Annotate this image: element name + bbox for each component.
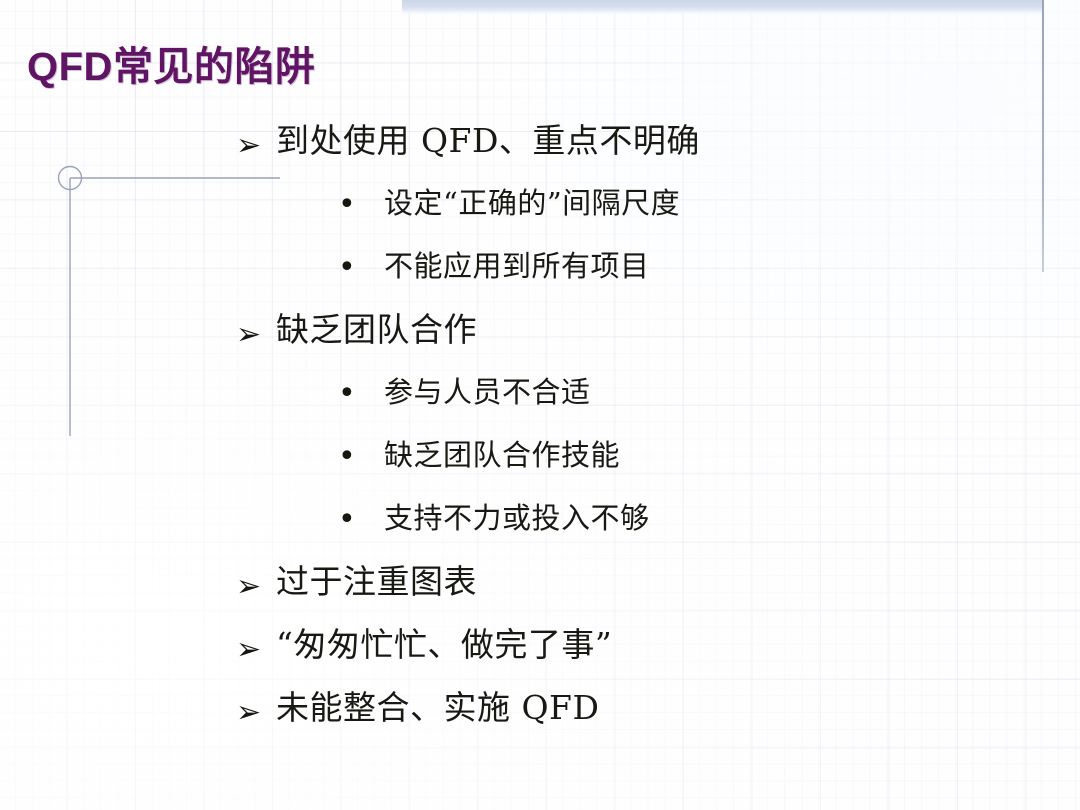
list-item-label: 设定“正确的”间隔尺度 [384, 184, 680, 222]
dot-bullet-icon: • [338, 436, 384, 472]
list-item-label: 过于注重图表 [276, 562, 477, 602]
top-accent-band-fade [402, 11, 1042, 15]
dot-bullet-icon: • [338, 247, 384, 283]
list-item: ➢ 到处使用 QFD、重点不明确 [0, 121, 1080, 184]
dot-bullet-icon: • [338, 184, 384, 220]
list-item-label: 缺乏团队合作 [276, 310, 477, 350]
page-title-han: 常见的陷阱 [113, 43, 316, 90]
list-item-label: “匆匆忙忙、做完了事” [276, 625, 612, 665]
list-item: • 支持不力或投入不够 [0, 499, 1080, 562]
page-title-latin: QFD [27, 45, 113, 89]
list-item-label: 支持不力或投入不够 [384, 499, 650, 537]
dot-bullet-icon: • [338, 499, 384, 535]
arrow-bullet-icon: ➢ [236, 310, 276, 350]
dot-bullet-icon: • [338, 373, 384, 409]
arrow-bullet-icon: ➢ [236, 688, 276, 728]
list-item-label: 不能应用到所有项目 [384, 247, 650, 285]
list-item: • 设定“正确的”间隔尺度 [0, 184, 1080, 247]
list-item-label: 参与人员不合适 [384, 373, 591, 411]
list-item: • 不能应用到所有项目 [0, 247, 1080, 310]
top-accent-band [402, 0, 1042, 11]
page-title: QFD常见的陷阱 [27, 34, 315, 92]
list-item: • 参与人员不合适 [0, 373, 1080, 436]
arrow-bullet-icon: ➢ [236, 121, 276, 161]
list-item: ➢ 未能整合、实施 QFD [0, 688, 1080, 751]
arrow-bullet-icon: ➢ [236, 625, 276, 665]
arrow-bullet-icon: ➢ [236, 562, 276, 602]
list-item-label: 缺乏团队合作技能 [384, 436, 620, 474]
list-item-label: 未能整合、实施 QFD [276, 688, 599, 728]
list-item: ➢ “匆匆忙忙、做完了事” [0, 625, 1080, 688]
slide-canvas: QFD常见的陷阱 ➢ 到处使用 QFD、重点不明确 • 设定“正确的”间隔尺度 … [0, 0, 1080, 810]
list-item-label: 到处使用 QFD、重点不明确 [276, 121, 700, 161]
list-item: • 缺乏团队合作技能 [0, 436, 1080, 499]
bullet-list: ➢ 到处使用 QFD、重点不明确 • 设定“正确的”间隔尺度 • 不能应用到所有… [0, 121, 1080, 751]
list-item: ➢ 过于注重图表 [0, 562, 1080, 625]
list-item: ➢ 缺乏团队合作 [0, 310, 1080, 373]
